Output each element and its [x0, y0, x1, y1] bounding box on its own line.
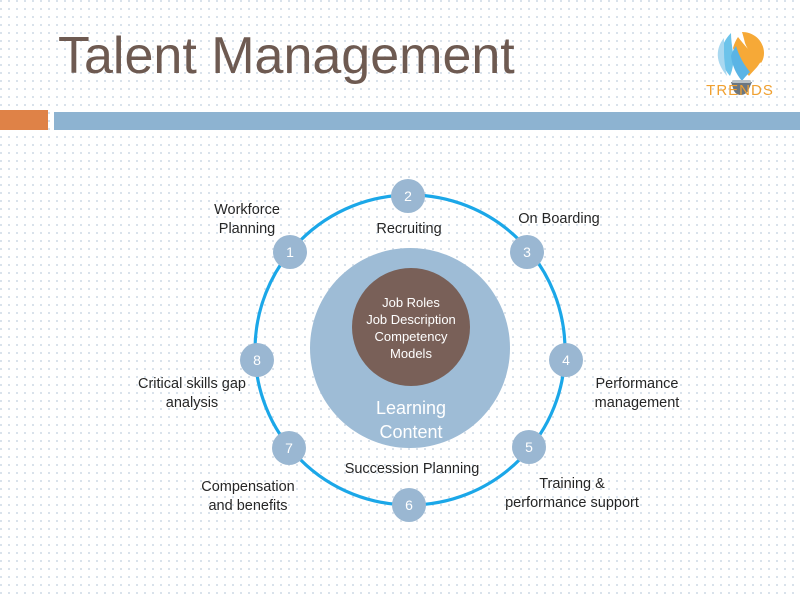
cycle-label-critical-skills-gap-analysis: Critical skills gap analysis — [124, 375, 260, 412]
cycle-label-performance-management: Performance management — [573, 375, 701, 412]
cycle-label-training-performance-support: Training & performance support — [492, 475, 652, 512]
cycle-node-4-number: 4 — [549, 343, 583, 377]
cycle-label-workforce-planning: Workforce Planning — [186, 201, 308, 238]
slide-canvas: Talent Management TRENDS — [0, 0, 800, 600]
cycle-node-8-number: 8 — [240, 343, 274, 377]
cycle-node-3-number: 3 — [510, 235, 544, 269]
cycle-node-6-number: 6 — [392, 488, 426, 522]
cycle-label-succession-planning: Succession Planning — [330, 460, 494, 479]
core-circle-text: Job Roles Job Description Competency Mod… — [330, 294, 492, 363]
cycle-label-recruiting: Recruiting — [348, 220, 470, 239]
cycle-node-5-number: 5 — [512, 430, 546, 464]
talent-management-cycle-diagram: 1 2 3 4 5 6 7 8 Workforce Planning Recru… — [0, 0, 800, 600]
cycle-label-compensation-and-benefits: Compensation and benefits — [182, 478, 314, 515]
cycle-node-2-number: 2 — [391, 179, 425, 213]
learning-content-text: Learning Content — [330, 396, 492, 445]
cycle-node-7-number: 7 — [272, 431, 306, 465]
cycle-label-on-boarding: On Boarding — [497, 210, 621, 229]
cycle-node-1-number: 1 — [273, 235, 307, 269]
